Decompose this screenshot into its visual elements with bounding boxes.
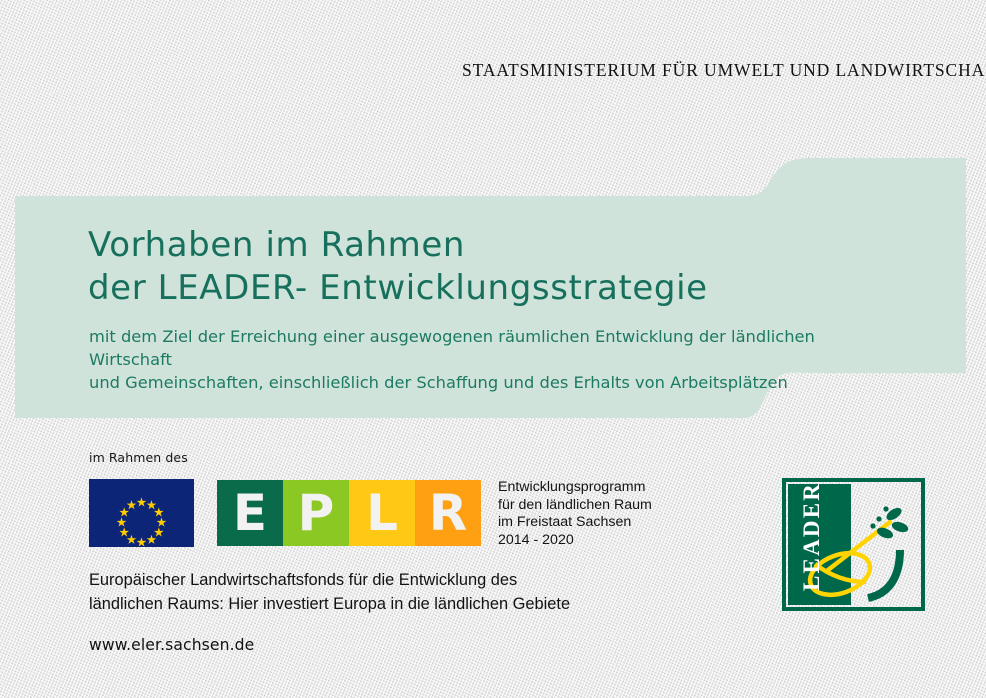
leader-vertical-text: LEADER bbox=[799, 482, 824, 591]
eplr-letter-p-char: P bbox=[298, 488, 335, 538]
eplr-letter-l-char: L bbox=[366, 488, 398, 538]
eplr-logo: E P L R bbox=[217, 480, 481, 546]
website-url: www.eler.sachsen.de bbox=[89, 636, 254, 654]
page-title: Vorhaben im Rahmen der LEADER- Entwicklu… bbox=[88, 224, 708, 310]
banner-text-group: Vorhaben im Rahmen der LEADER- Entwicklu… bbox=[0, 140, 986, 430]
page-subtitle: mit dem Ziel der Erreichung einer ausgew… bbox=[89, 325, 899, 394]
eplr-letter-l: L bbox=[349, 480, 415, 546]
eplr-letter-r-char: R bbox=[429, 488, 468, 538]
ministry-wordmark: STAATSMINISTERIUM FÜR UMWELT UND LANDWIR… bbox=[462, 56, 986, 82]
eler-funding-statement: Europäischer Landwirtschaftsfonds für di… bbox=[89, 568, 570, 616]
european-union-flag-icon bbox=[89, 479, 194, 547]
eplr-letter-p: P bbox=[283, 480, 349, 546]
ministry-logo-bar: STAATSMINISTERIUM FÜR UMWELT UND LANDWIR… bbox=[462, 56, 986, 138]
funding-intro-label: im Rahmen des bbox=[89, 450, 188, 465]
eplr-letter-r: R bbox=[415, 480, 481, 546]
eplr-caption: Entwicklungsprogramm für den ländlichen … bbox=[498, 479, 652, 549]
leader-logo-icon: LEADER bbox=[782, 478, 925, 611]
eplr-letter-e: E bbox=[217, 480, 283, 546]
headline-banner: Vorhaben im Rahmen der LEADER- Entwicklu… bbox=[0, 140, 986, 430]
poster-page: STAATSMINISTERIUM FÜR UMWELT UND LANDWIR… bbox=[0, 0, 986, 698]
eplr-letter-e-char: E bbox=[233, 488, 267, 538]
